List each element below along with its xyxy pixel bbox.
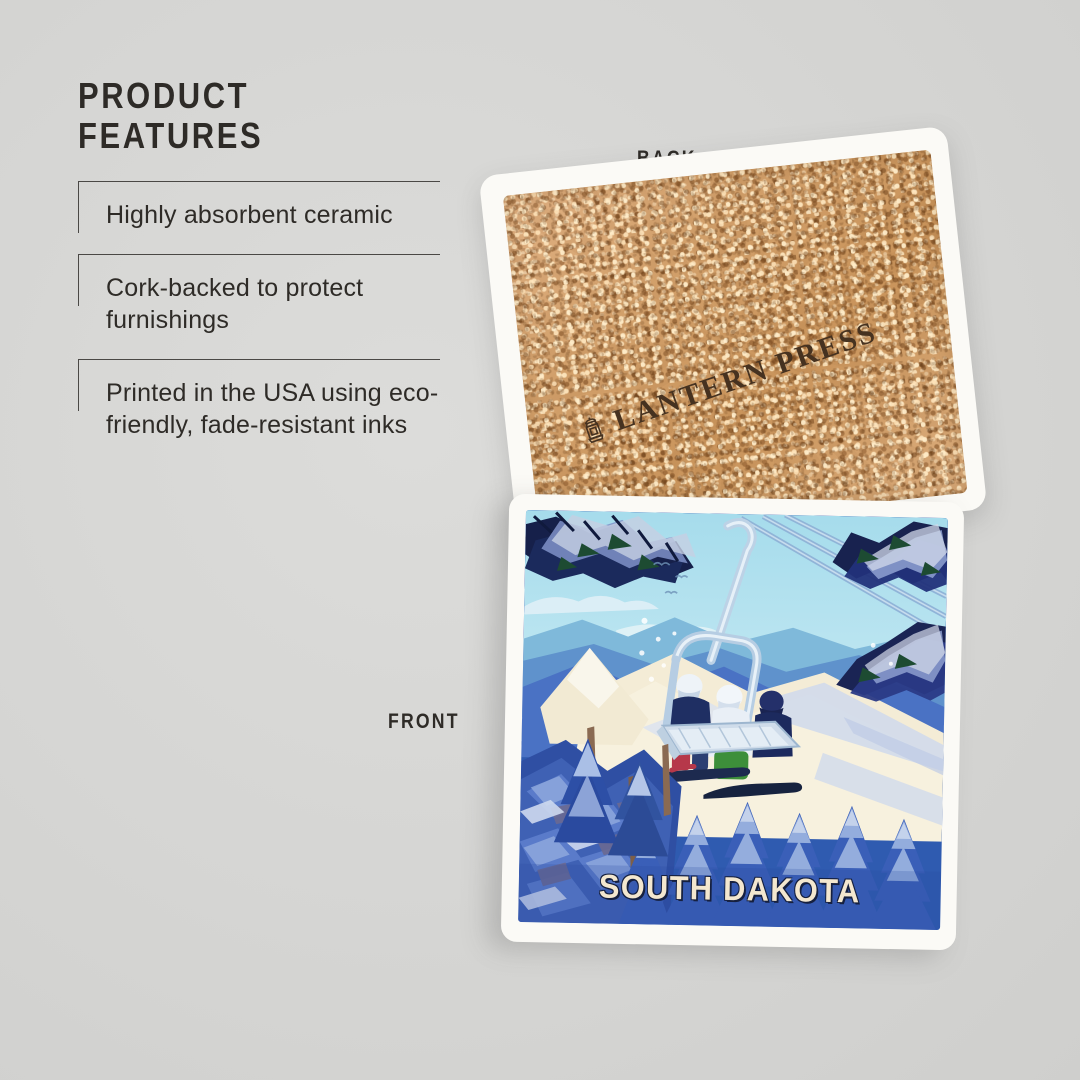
page-title: PRODUCT FEATURES [78,76,418,155]
artwork-title: SOUTH DAKOTA [533,866,926,912]
cork-grain-texture [503,150,968,539]
callout-label-front: FRONT [388,710,460,734]
cork-surface: LANTERN PRESS [503,150,968,539]
feature-list: Highly absorbent ceramic Cork-backed to … [78,181,473,442]
screenshot-stage: PRODUCT FEATURES Highly absorbent cerami… [0,0,1080,1080]
feature-item-cork-backed: Cork-backed to protect furnishings [78,254,473,337]
coaster-front: SOUTH DAKOTA [501,494,965,951]
feature-item-printed-usa: Printed in the USA using eco-friendly, f… [78,359,473,442]
feature-item-absorbent: Highly absorbent ceramic [78,181,473,232]
product-features-panel: PRODUCT FEATURES Highly absorbent cerami… [78,76,473,464]
feature-text: Cork-backed to protect furnishings [106,272,473,337]
feature-text: Highly absorbent ceramic [106,199,473,232]
feature-text: Printed in the USA using eco-friendly, f… [106,377,473,442]
coaster-artwork: SOUTH DAKOTA [518,510,948,930]
